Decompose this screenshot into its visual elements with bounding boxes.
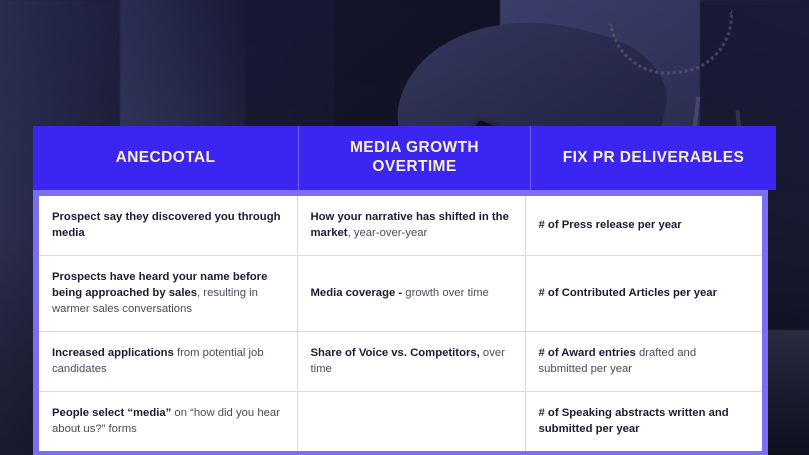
table-header-row: ANECDOTAL MEDIA GROWTH OVERTIME FIX PR D… — [33, 126, 776, 190]
cell-bold-text: # of Contributed Articles per year — [539, 287, 718, 299]
comparison-table: ANECDOTAL MEDIA GROWTH OVERTIME FIX PR D… — [33, 126, 776, 455]
cell-bold-text: # of Speaking abstracts written and subm… — [539, 407, 729, 435]
cell-bold-text: Share of Voice vs. Competitors, — [311, 347, 480, 359]
column-header-fix-pr-deliverables: FIX PR DELIVERABLES — [531, 126, 776, 190]
cell-media-growth: How your narrative has shifted in the ma… — [297, 196, 525, 256]
table-row: Prospect say they discovered you through… — [39, 196, 762, 256]
cell-media-growth: Share of Voice vs. Competitors, over tim… — [297, 332, 525, 392]
column-header-media-growth: MEDIA GROWTH OVERTIME — [298, 126, 531, 190]
cell-deliverables: # of Contributed Articles per year — [525, 256, 762, 332]
cell-anecdotal: Increased applications from potential jo… — [39, 332, 297, 392]
table-row: People select “media” on “how did you he… — [39, 392, 762, 452]
cell-deliverables: # of Press release per year — [525, 196, 762, 256]
cell-regular-text: growth over time — [402, 287, 489, 299]
cell-bold-text: Increased applications — [52, 347, 174, 359]
cell-bold-text: # of Press release per year — [539, 219, 682, 231]
cell-bold-text: Prospect say they discovered you through… — [52, 211, 281, 239]
table-row: Increased applications from potential jo… — [39, 332, 762, 392]
table-body-rows: Prospect say they discovered you through… — [39, 196, 762, 451]
cell-anecdotal: People select “media” on “how did you he… — [39, 392, 297, 452]
table-body: Prospect say they discovered you through… — [39, 196, 762, 451]
cell-bold-text: Media coverage - — [311, 287, 403, 299]
column-header-anecdotal: ANECDOTAL — [33, 126, 298, 190]
cell-bold-text: People select “media” — [52, 407, 171, 419]
cell-media-growth: Media coverage - growth over time — [297, 256, 525, 332]
cell-anecdotal: Prospects have heard your name before be… — [39, 256, 297, 332]
cell-media-growth-empty — [297, 392, 525, 452]
table-body-frame: Prospect say they discovered you through… — [33, 190, 768, 455]
cell-deliverables: # of Speaking abstracts written and subm… — [525, 392, 762, 452]
slide-canvas: ANECDOTAL MEDIA GROWTH OVERTIME FIX PR D… — [0, 0, 809, 455]
cell-anecdotal: Prospect say they discovered you through… — [39, 196, 297, 256]
cell-deliverables: # of Award entries drafted and submitted… — [525, 332, 762, 392]
cell-regular-text: , year-over-year — [348, 227, 428, 239]
table-row: Prospects have heard your name before be… — [39, 256, 762, 332]
cell-bold-text: # of Award entries — [539, 347, 636, 359]
